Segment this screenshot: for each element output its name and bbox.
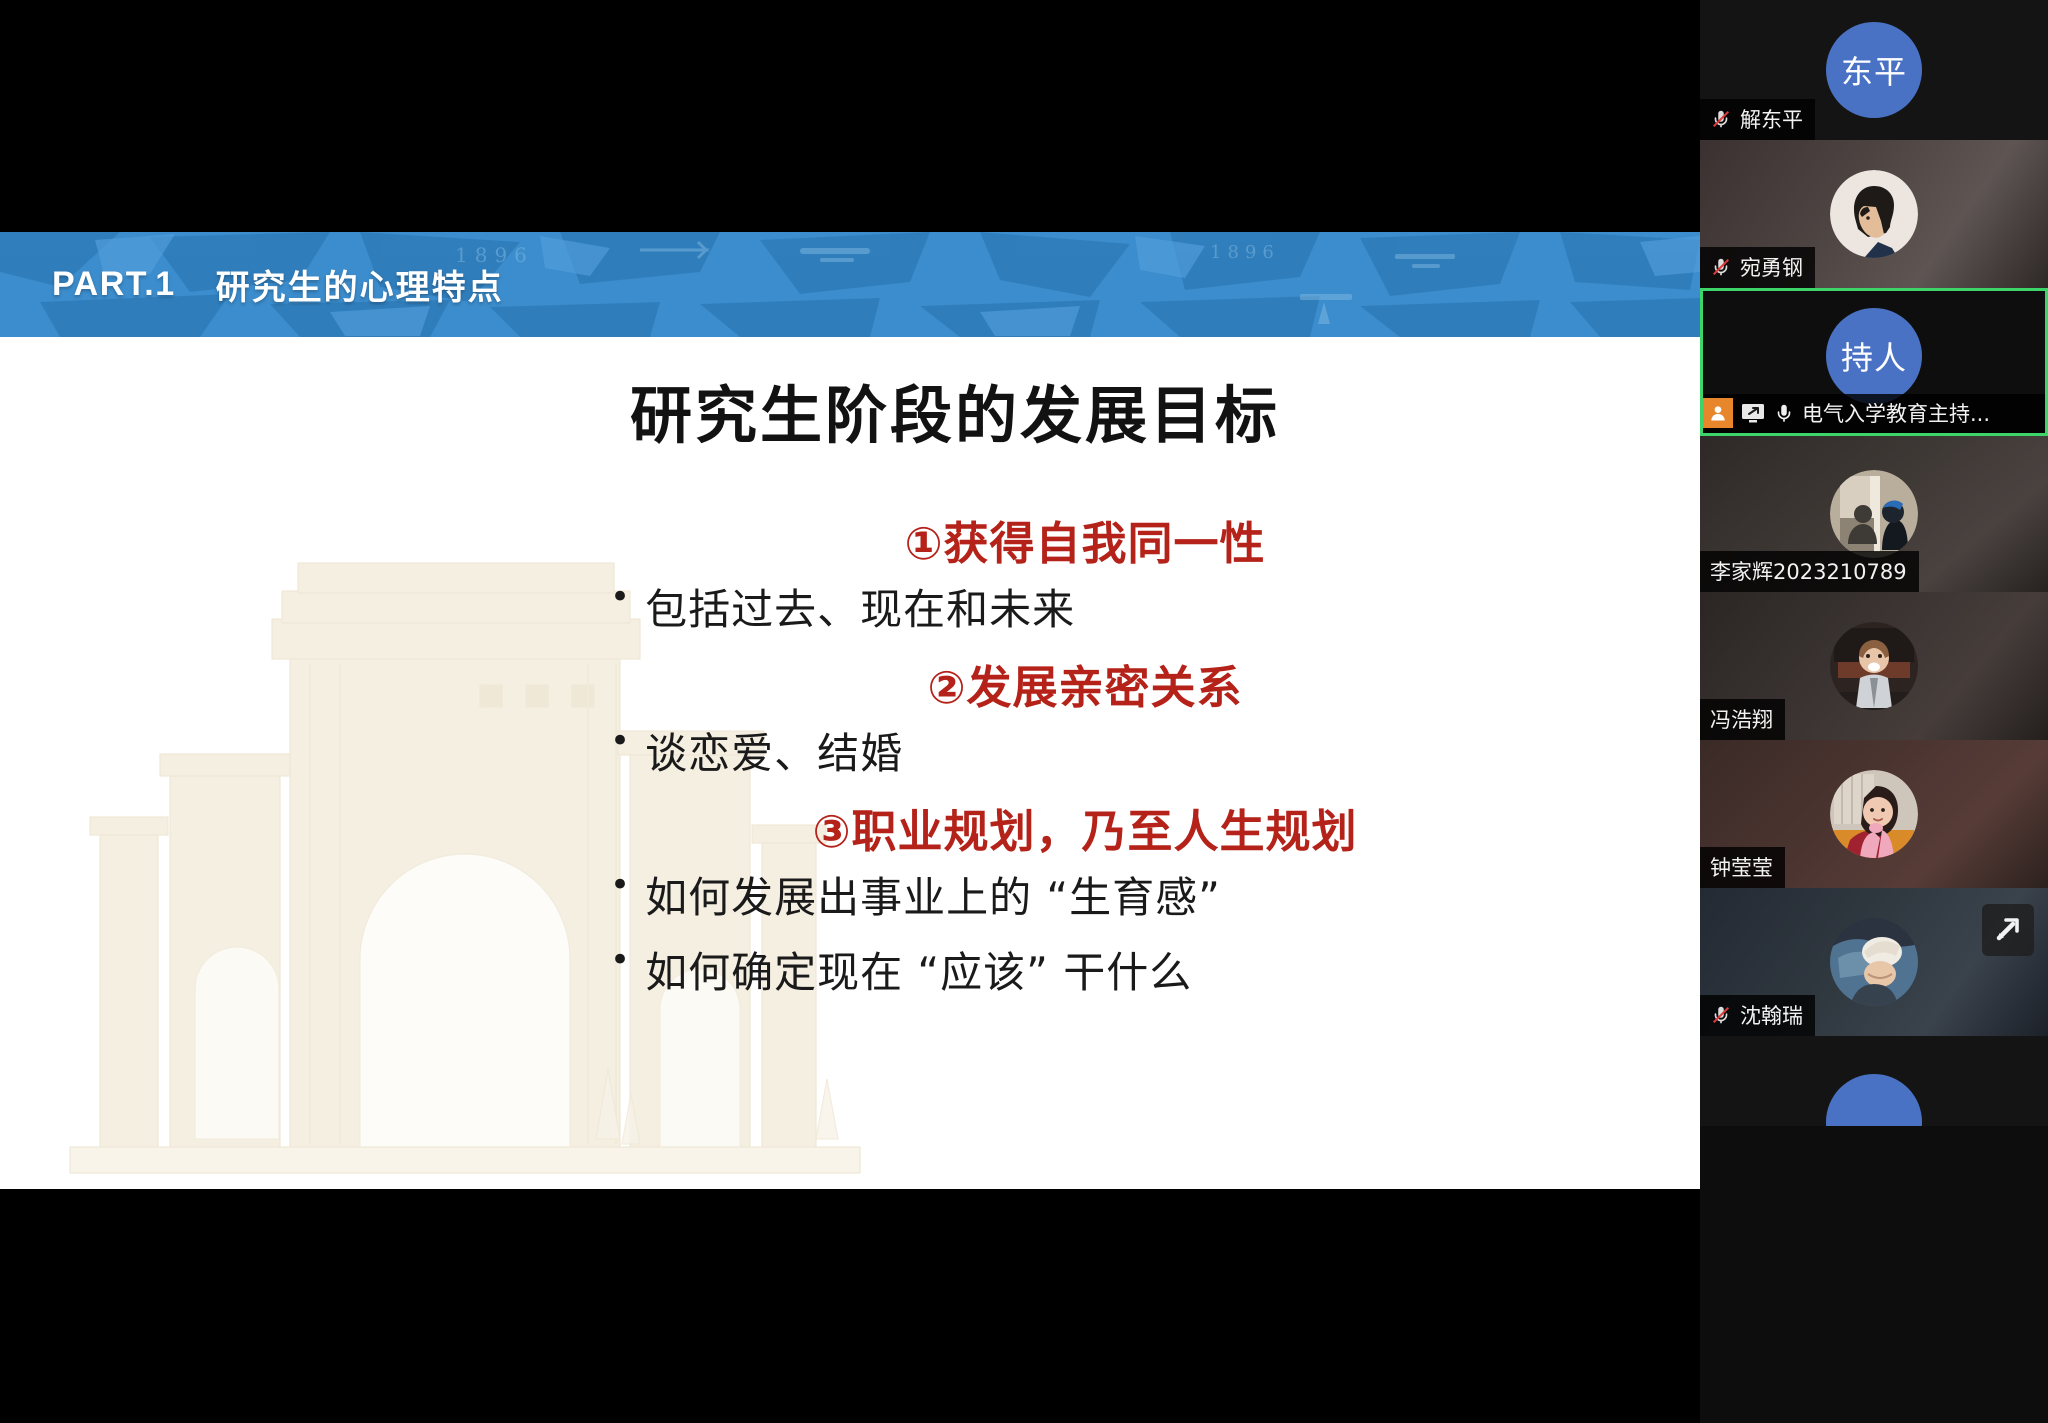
participant-name: 解东平 (1740, 104, 1803, 134)
bullet-text: 如何确定现在 “应该” 干什么 (645, 939, 1192, 1000)
bullet-text: 谈恋爱、结婚 (645, 720, 903, 781)
avatar-initials-text: 持人 (1841, 333, 1907, 379)
bullet-heading: ③职业规划，乃至人生规划 (610, 795, 1650, 860)
participant-tile-host[interactable]: 持人 电气入学教育主 (1700, 288, 2048, 436)
screen-share-icon (1740, 401, 1766, 425)
bullet-dot-icon: • (610, 576, 631, 619)
participant-name: 沈翰瑞 (1740, 1000, 1803, 1030)
bullet-dot-icon: • (610, 939, 631, 982)
participant-tile[interactable]: 沈翰瑞 (1700, 888, 2048, 1036)
participant-namebar: 李家辉2023210789 (1700, 551, 1919, 592)
participant-namebar: 电气入学教育主持... (1703, 394, 2045, 433)
participant-tile[interactable]: 钟莹莹 (1700, 740, 2048, 888)
participant-name: 李家辉2023210789 (1710, 556, 1907, 586)
avatar (1830, 770, 1918, 858)
banner-part-number: PART.1 (52, 265, 176, 304)
bullet-heading: ①获得自我同一性 (610, 507, 1650, 572)
bullet-item: • 包括过去、现在和未来 (610, 576, 1650, 637)
participant-tile[interactable]: 李家辉2023210789 (1700, 436, 2048, 592)
mic-muted-icon (1710, 108, 1732, 130)
avatar (1830, 170, 1918, 258)
participant-tile[interactable] (1700, 1036, 2048, 1126)
bullet-item: • 谈恋爱、结婚 (610, 720, 1650, 781)
avatar (1830, 622, 1918, 710)
slide-body: 研究生阶段的发展目标 ①获得自我同一性 • 包括过去、现在和未来 ②发展亲密关系… (0, 337, 1700, 1189)
avatar: 东平 (1826, 22, 1922, 118)
participant-namebar: 解东平 (1700, 99, 1815, 140)
svg-text:1896: 1896 (1210, 242, 1280, 263)
avatar-photo-child-smiling (1830, 622, 1918, 710)
host-person-icon (1703, 398, 1733, 428)
bullet-group-3: ③职业规划，乃至人生规划 • 如何发展出事业上的 “生育感” • 如何确定现在 … (610, 795, 1650, 1000)
bullet-group-1: ①获得自我同一性 • 包括过去、现在和未来 (610, 507, 1650, 637)
participant-namebar: 钟莹莹 (1700, 847, 1785, 888)
participant-tile[interactable]: 冯浩翔 (1700, 592, 2048, 740)
participant-namebar: 冯浩翔 (1700, 699, 1785, 740)
avatar (1830, 470, 1918, 558)
participant-name: 宛勇钢 (1740, 252, 1803, 282)
meeting-window: 1896 1896 PART.1 研究生的心理特点 (0, 0, 2048, 1423)
avatar-photo-sleeping-person (1830, 918, 1918, 1006)
bullet-dot-icon: • (610, 864, 631, 907)
avatar-photo-portrait-man (1830, 170, 1918, 258)
participant-name: 钟莹莹 (1710, 852, 1773, 882)
mic-icon (1773, 402, 1795, 424)
participant-filmstrip[interactable]: 东平 解东平 (1700, 0, 2048, 1423)
expand-pin-icon[interactable] (1982, 904, 2034, 956)
bullet-heading: ②发展亲密关系 (610, 651, 1650, 716)
participant-tile[interactable]: 东平 解东平 (1700, 0, 2048, 140)
avatar (1830, 918, 1918, 1006)
participant-name: 电气入学教育主持... (1802, 398, 1990, 428)
participant-tile[interactable]: 宛勇钢 (1700, 140, 2048, 288)
avatar: 持人 (1826, 308, 1922, 404)
avatar-initials-text: 东平 (1841, 47, 1907, 93)
slide-title: 研究生阶段的发展目标 (0, 365, 1700, 455)
participant-name: 冯浩翔 (1710, 704, 1773, 734)
bullet-group-2: ②发展亲密关系 • 谈恋爱、结婚 (610, 651, 1650, 781)
participant-namebar: 沈翰瑞 (1700, 995, 1815, 1036)
presentation-slide: 1896 1896 PART.1 研究生的心理特点 (0, 232, 1700, 1189)
mic-muted-icon (1710, 256, 1732, 278)
slide-banner: 1896 1896 PART.1 研究生的心理特点 (0, 232, 1700, 337)
screen-share-stage[interactable]: 1896 1896 PART.1 研究生的心理特点 (0, 0, 1700, 1423)
slide-bullets: ①获得自我同一性 • 包括过去、现在和未来 ②发展亲密关系 • 谈恋爱、结婚 (610, 507, 1650, 1014)
bullet-text: 包括过去、现在和未来 (645, 576, 1075, 637)
bullet-text: 如何发展出事业上的 “生育感” (645, 864, 1221, 925)
banner-text: PART.1 研究生的心理特点 (52, 232, 504, 337)
banner-part-title: 研究生的心理特点 (216, 260, 504, 309)
mic-muted-icon (1710, 1004, 1732, 1026)
bullet-item: • 如何确定现在 “应该” 干什么 (610, 939, 1650, 1000)
bullet-item: • 如何发展出事业上的 “生育感” (610, 864, 1650, 925)
bullet-dot-icon: • (610, 720, 631, 763)
avatar-photo-woman-pink (1830, 770, 1918, 858)
participant-namebar: 宛勇钢 (1700, 247, 1815, 288)
avatar-photo-silhouette-window (1830, 470, 1918, 558)
